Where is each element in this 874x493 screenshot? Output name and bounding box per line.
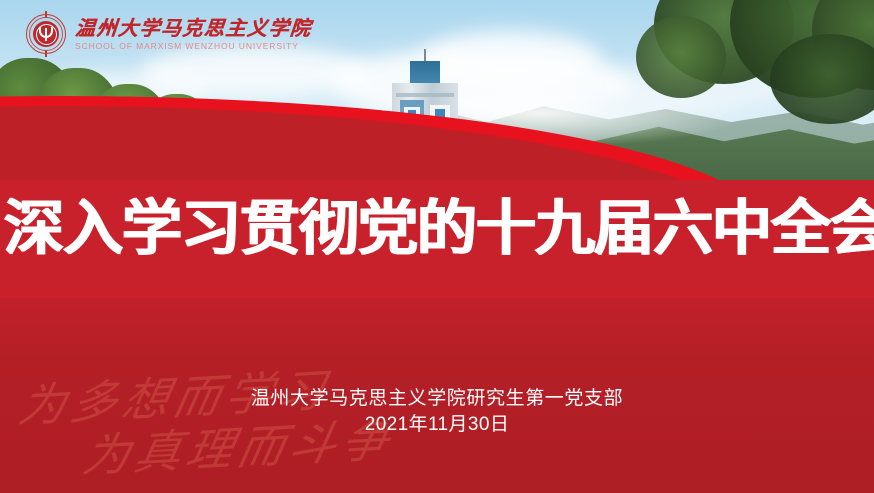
university-logo: 温州大学马克思主义学院 SCHOOL OF MARXISM WENZHOU UN… bbox=[26, 12, 312, 56]
presentation-slide: 温州大学马克思主义学院 SCHOOL OF MARXISM WENZHOU UN… bbox=[0, 0, 874, 493]
tree-cluster-right bbox=[600, 0, 874, 154]
seal-u-letter-icon bbox=[39, 27, 53, 42]
slide-main-title: 深入学习贯彻党的十九届六中全会精神 bbox=[4, 196, 874, 263]
subtitle-block: 温州大学马克思主义学院研究生第一党支部 2021年11月30日 bbox=[0, 386, 874, 437]
subtitle-organization: 温州大学马克思主义学院研究生第一党支部 bbox=[0, 386, 874, 411]
logo-text-block: 温州大学马克思主义学院 SCHOOL OF MARXISM WENZHOU UN… bbox=[75, 18, 312, 51]
tower-band bbox=[396, 93, 454, 97]
logo-en-name: SCHOOL OF MARXISM WENZHOU UNIVERSITY bbox=[75, 41, 312, 51]
subtitle-date: 2021年11月30日 bbox=[0, 412, 874, 437]
wenzhou-university-seal-icon bbox=[26, 14, 66, 54]
logo-cn-name: 温州大学马克思主义学院 bbox=[74, 18, 312, 39]
